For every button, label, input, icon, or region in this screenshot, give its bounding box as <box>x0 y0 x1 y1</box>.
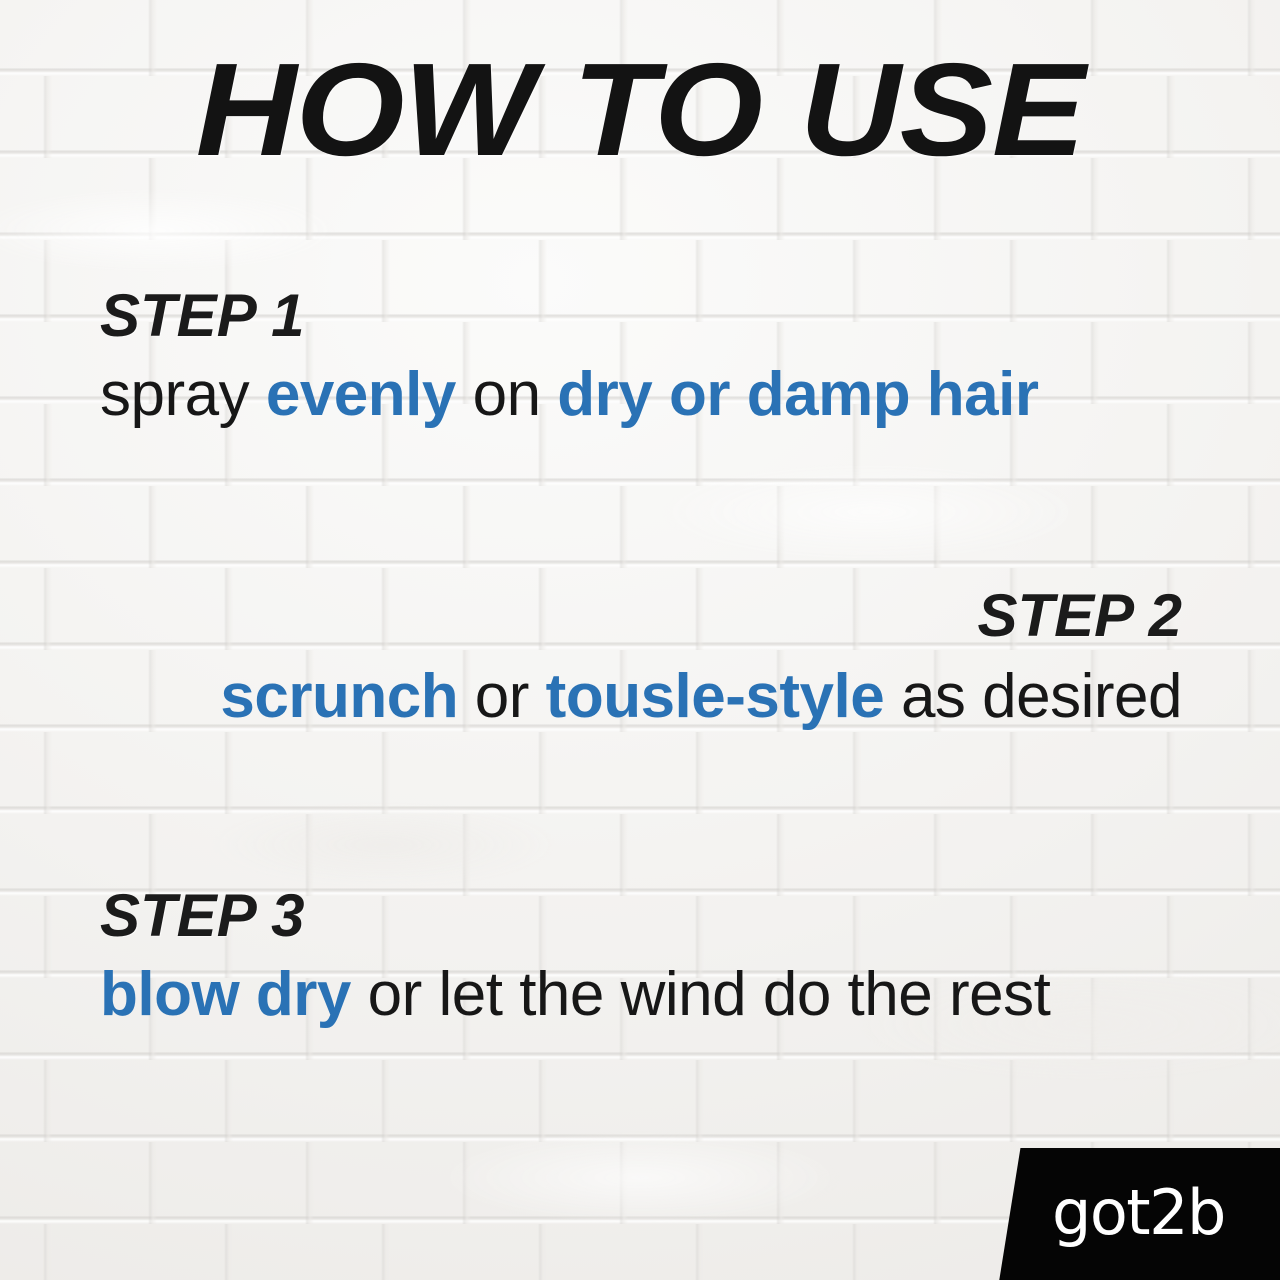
step-3-label: STEP 3 <box>100 886 1182 946</box>
step-2-segment-1: scrunch <box>220 662 458 731</box>
step-3-segment-2: or let the wind do the rest <box>351 960 1050 1029</box>
step-3-segment-1: blow dry <box>100 960 351 1029</box>
step-1-body: spray evenly on dry or damp hair <box>100 362 1182 429</box>
step-3-body: blow dry or let the wind do the rest <box>100 962 1182 1029</box>
step-1-segment-2: evenly <box>266 360 456 429</box>
step-2-label: STEP 2 <box>100 586 1182 646</box>
step-1-segment-4: dry or damp hair <box>557 360 1038 429</box>
poster-content: HOW TO USE STEP 1 spray evenly on dry or… <box>0 0 1280 1280</box>
step-1-segment-1: spray <box>100 360 266 429</box>
step-block-2: STEP 2 scrunch or tousle-style as desire… <box>100 586 1182 731</box>
step-1-segment-3: on <box>456 360 557 429</box>
step-2-body: scrunch or tousle-style as desired <box>100 664 1182 731</box>
step-2-segment-2: or <box>458 662 546 731</box>
page-title: HOW TO USE <box>0 44 1280 176</box>
got2b-logo-text: got2b <box>1052 1182 1225 1244</box>
step-2-segment-3: tousle-style <box>546 662 885 731</box>
step-2-segment-4: as desired <box>884 662 1182 731</box>
step-1-label: STEP 1 <box>100 286 1182 346</box>
got2b-logo-badge: got2b <box>990 1148 1280 1280</box>
step-block-1: STEP 1 spray evenly on dry or damp hair <box>100 286 1182 429</box>
poster-canvas: HOW TO USE STEP 1 spray evenly on dry or… <box>0 0 1280 1280</box>
step-block-3: STEP 3 blow dry or let the wind do the r… <box>100 886 1182 1029</box>
